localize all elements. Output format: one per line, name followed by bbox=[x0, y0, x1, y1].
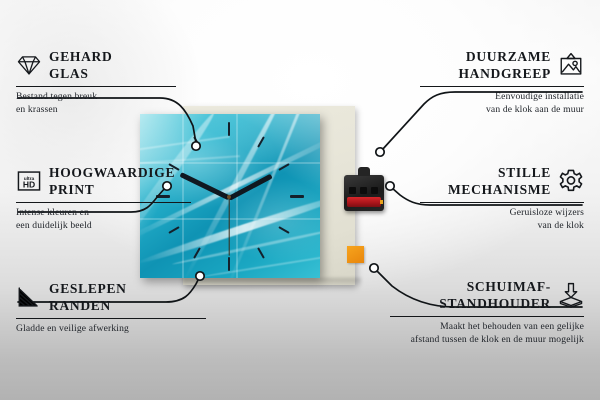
second-hand bbox=[228, 198, 229, 256]
divider bbox=[420, 202, 584, 204]
divider bbox=[16, 318, 206, 320]
divider bbox=[390, 316, 584, 318]
clock-movement-mechanism bbox=[344, 175, 384, 211]
hour-tick-6 bbox=[228, 257, 230, 271]
feature-description: Maakt het behouden van een gelijke afsta… bbox=[390, 321, 584, 347]
feature-description: Gladde en veilige afwerking bbox=[16, 323, 206, 336]
feature-geslepen-randen: GESLEPEN RANDEN Gladde en veilige afwerk… bbox=[16, 280, 206, 336]
mechanism-port bbox=[360, 187, 367, 194]
feature-hoogwaardige-print: ultra HD HOOGWAARDIGE PRINT Intense kleu… bbox=[16, 164, 191, 233]
connector-endpoint-marker bbox=[386, 182, 394, 190]
feature-description: Intense kleuren en een duidelijk beeld bbox=[16, 207, 191, 233]
connector-endpoint-marker bbox=[370, 264, 378, 272]
feature-title: GEHARD GLAS bbox=[49, 48, 112, 83]
divider bbox=[16, 86, 176, 88]
mechanism-port bbox=[349, 187, 356, 194]
feature-gehard-glas: GEHARD GLAS Bestand tegen breuk en krass… bbox=[16, 48, 176, 117]
hour-tick-12 bbox=[228, 122, 230, 136]
feature-schuimafstandhouder: SCHUIMAF- STANDHOUDER Maakt het behouden… bbox=[390, 278, 584, 347]
feature-description: Bestand tegen breuk en krassen bbox=[16, 91, 176, 117]
diamond-icon bbox=[16, 52, 42, 78]
aa-battery bbox=[347, 197, 381, 207]
feature-description: Eenvoudige installatie van de klok aan d… bbox=[420, 91, 584, 117]
mechanism-port bbox=[371, 187, 378, 194]
clock-center-pin bbox=[227, 195, 231, 199]
svg-text:HD: HD bbox=[23, 180, 35, 190]
feature-duurzame-handgreep: DUURZAME HANDGREEP Eenvoudige installati… bbox=[420, 48, 584, 117]
gear-icon bbox=[558, 168, 584, 194]
picture-frame-icon bbox=[558, 52, 584, 78]
ultra-hd-icon: ultra HD bbox=[16, 168, 42, 194]
hour-tick-3 bbox=[290, 195, 304, 198]
wall-shadow bbox=[183, 278, 361, 287]
feature-title: GESLEPEN RANDEN bbox=[49, 280, 127, 315]
feature-title: SCHUIMAF- STANDHOUDER bbox=[439, 278, 551, 313]
feature-stille-mechanisme: STILLE MECHANISME Geruisloze wijzers van… bbox=[420, 164, 584, 233]
feature-title: STILLE MECHANISME bbox=[448, 164, 551, 199]
feature-description: Geruisloze wijzers van de klok bbox=[420, 207, 584, 233]
divider bbox=[420, 86, 584, 88]
beveled-edge-icon bbox=[16, 284, 42, 310]
divider bbox=[16, 202, 191, 204]
feature-title: DUURZAME HANDGREEP bbox=[458, 48, 551, 83]
mechanism-shaft bbox=[358, 167, 370, 176]
connector-endpoint-marker bbox=[376, 148, 384, 156]
feature-title: HOOGWAARDIGE PRINT bbox=[49, 164, 175, 199]
product-feature-infographic: GEHARD GLAS Bestand tegen breuk en krass… bbox=[0, 0, 600, 400]
foam-spacer-pad bbox=[347, 246, 364, 263]
foam-spacer-icon bbox=[558, 282, 584, 308]
